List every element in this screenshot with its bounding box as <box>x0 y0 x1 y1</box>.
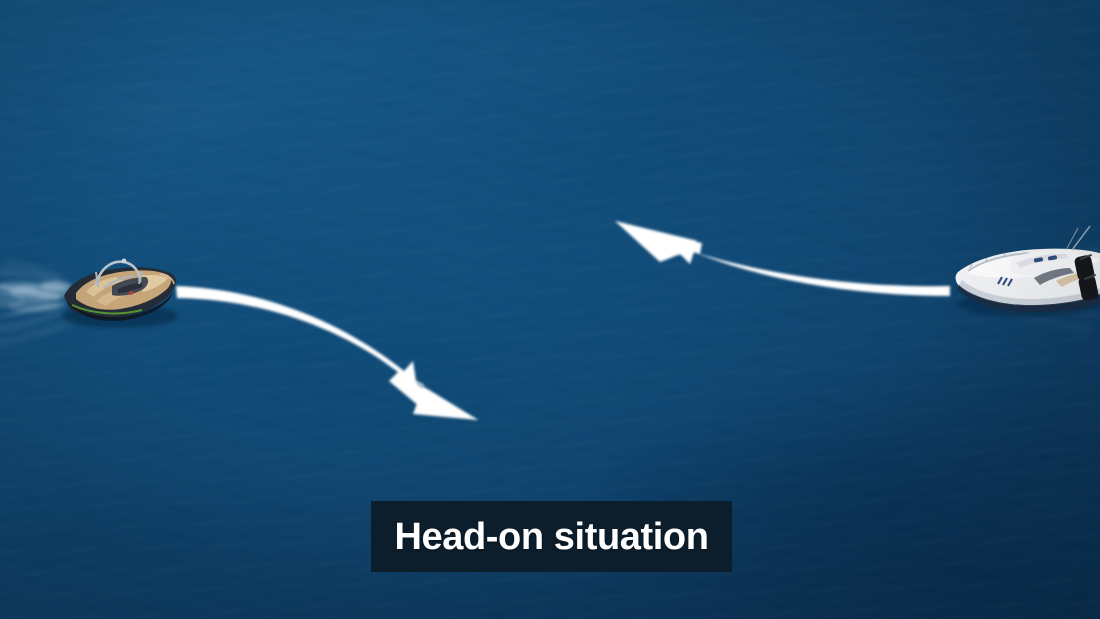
course-arrow-left-boat <box>176 286 478 420</box>
caption-banner: Head-on situation <box>371 501 732 572</box>
scene-container: Head-on situation <box>0 0 1100 619</box>
course-arrow-right-boat <box>615 221 950 296</box>
caption-label: Head-on situation <box>394 518 708 556</box>
